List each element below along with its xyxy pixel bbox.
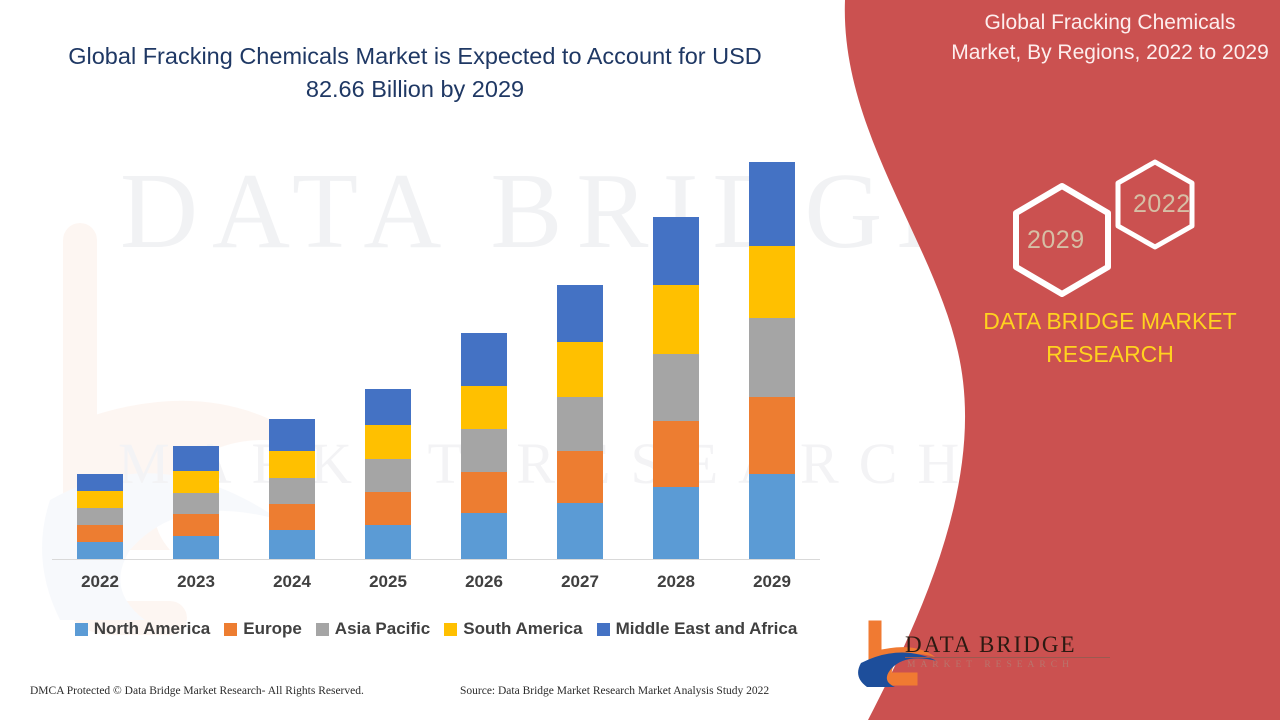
legend-swatch-icon: [316, 623, 329, 636]
bar-2022[interactable]: [77, 474, 123, 559]
legend-swatch-icon: [75, 623, 88, 636]
dbmr-logo-word: DATA BRIDGE: [905, 632, 1077, 658]
bar-segment[interactable]: [77, 474, 123, 491]
bar-segment[interactable]: [461, 386, 507, 430]
x-label-2023: 2023: [161, 572, 231, 592]
bar-2029[interactable]: [749, 162, 795, 559]
x-label-2026: 2026: [449, 572, 519, 592]
plot-area: [52, 156, 820, 560]
x-label-2027: 2027: [545, 572, 615, 592]
copyright-text: DMCA Protected © Data Bridge Market Rese…: [30, 685, 364, 697]
bar-segment[interactable]: [653, 285, 699, 354]
x-axis-labels: 20222023202420252026202720282029: [52, 572, 820, 600]
legend-swatch-icon: [444, 623, 457, 636]
bar-segment[interactable]: [269, 419, 315, 451]
bar-segment[interactable]: [365, 459, 411, 492]
right-panel: Global Fracking Chemicals Market, By Reg…: [960, 0, 1280, 720]
chart-legend: North AmericaEuropeAsia PacificSouth Ame…: [52, 616, 820, 642]
bar-segment[interactable]: [77, 491, 123, 508]
bar-segment[interactable]: [749, 318, 795, 398]
bar-segment[interactable]: [461, 429, 507, 472]
bar-segment[interactable]: [557, 503, 603, 559]
bar-segment[interactable]: [557, 397, 603, 450]
legend-label: Middle East and Africa: [616, 619, 798, 639]
bar-segment[interactable]: [557, 451, 603, 503]
bar-segment[interactable]: [653, 217, 699, 285]
hex-label-2029: 2029: [1027, 226, 1085, 255]
page-title: Global Fracking Chemicals Market is Expe…: [55, 40, 775, 107]
hex-label-2022: 2022: [1133, 190, 1191, 219]
x-label-2022: 2022: [65, 572, 135, 592]
bar-segment[interactable]: [365, 492, 411, 525]
source-text: Source: Data Bridge Market Research Mark…: [460, 685, 769, 697]
dbmr-logo-rule: [905, 657, 1110, 658]
bar-segment[interactable]: [173, 536, 219, 559]
hexagon-badges: 2022 2029: [970, 150, 1270, 300]
bar-segment[interactable]: [749, 162, 795, 246]
bar-segment[interactable]: [557, 342, 603, 397]
legend-label: Europe: [243, 619, 302, 639]
bar-2027[interactable]: [557, 285, 603, 559]
dbmr-logo-subtitle: MARKET RESEARCH: [907, 660, 1074, 670]
bar-2026[interactable]: [461, 333, 507, 559]
bar-2023[interactable]: [173, 446, 219, 559]
legend-item[interactable]: South America: [444, 619, 582, 639]
bar-segment[interactable]: [77, 525, 123, 542]
bar-segment[interactable]: [653, 354, 699, 421]
legend-item[interactable]: Asia Pacific: [316, 619, 430, 639]
x-label-2024: 2024: [257, 572, 327, 592]
bar-segment[interactable]: [269, 504, 315, 531]
bar-segment[interactable]: [269, 451, 315, 479]
bar-segment[interactable]: [77, 508, 123, 525]
stacked-bar-chart: [52, 150, 820, 560]
legend-swatch-icon: [597, 623, 610, 636]
bar-segment[interactable]: [653, 487, 699, 559]
legend-swatch-icon: [224, 623, 237, 636]
bar-2028[interactable]: [653, 217, 699, 559]
x-axis-line: [52, 559, 820, 560]
x-label-2029: 2029: [737, 572, 807, 592]
bar-segment[interactable]: [173, 493, 219, 514]
bar-segment[interactable]: [365, 425, 411, 459]
legend-label: North America: [94, 619, 211, 639]
chart-pane: DATA BRIDGE MARKET RESEARCH Global Frack…: [0, 0, 980, 720]
bar-segment[interactable]: [749, 474, 795, 559]
dbmr-logo: DATA BRIDGE MARKET RESEARCH: [895, 625, 1145, 695]
x-label-2025: 2025: [353, 572, 423, 592]
right-panel-title: Global Fracking Chemicals Market, By Reg…: [950, 8, 1270, 68]
bar-segment[interactable]: [365, 389, 411, 425]
bar-segment[interactable]: [173, 514, 219, 535]
bar-segment[interactable]: [461, 513, 507, 559]
bar-segment[interactable]: [461, 333, 507, 386]
legend-label: Asia Pacific: [335, 619, 430, 639]
legend-label: South America: [463, 619, 582, 639]
bar-2025[interactable]: [365, 389, 411, 559]
bar-segment[interactable]: [365, 525, 411, 559]
bar-segment[interactable]: [653, 421, 699, 487]
bar-segment[interactable]: [173, 471, 219, 493]
hexagon-outline-icon: [970, 150, 1270, 300]
legend-item[interactable]: North America: [75, 619, 211, 639]
legend-item[interactable]: Europe: [224, 619, 302, 639]
bar-2024[interactable]: [269, 419, 315, 559]
infographic-canvas: DATA BRIDGE MARKET RESEARCH Global Frack…: [0, 0, 1280, 720]
legend-item[interactable]: Middle East and Africa: [597, 619, 798, 639]
bar-segment[interactable]: [269, 478, 315, 504]
brand-name: DATA BRIDGE MARKET RESEARCH: [950, 305, 1270, 370]
bar-segment[interactable]: [557, 285, 603, 342]
bar-segment[interactable]: [77, 542, 123, 559]
bar-segment[interactable]: [173, 446, 219, 470]
bar-segment[interactable]: [269, 530, 315, 559]
bar-segment[interactable]: [749, 246, 795, 317]
bar-segment[interactable]: [461, 472, 507, 513]
bar-segment[interactable]: [749, 397, 795, 474]
x-label-2028: 2028: [641, 572, 711, 592]
